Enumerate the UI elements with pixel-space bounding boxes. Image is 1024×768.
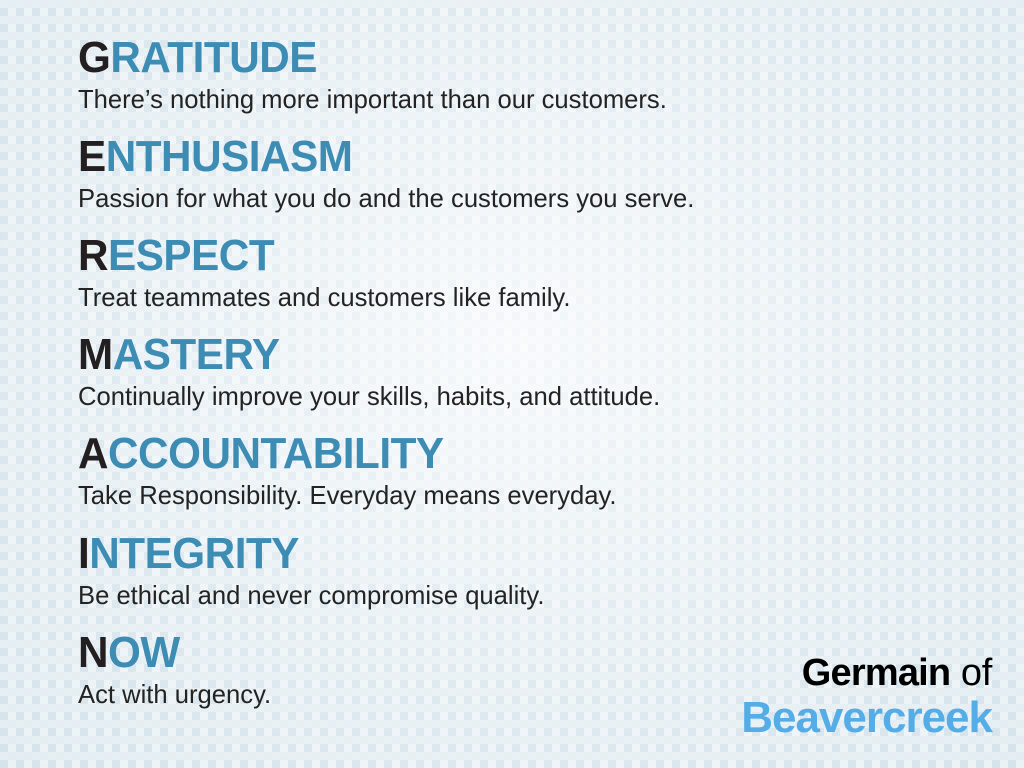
value-heading-mastery: MASTERY	[78, 333, 942, 377]
value-heading-integrity: INTEGRITY	[78, 532, 942, 576]
value-initial-letter: N	[78, 628, 108, 677]
value-initial-letter: G	[78, 33, 110, 82]
logo-connector-word: of	[961, 652, 992, 694]
value-initial-letter: A	[78, 429, 108, 478]
value-entry-mastery: MASTERY Continually improve your skills,…	[78, 333, 978, 411]
value-description-respect: Treat teammates and customers like famil…	[78, 283, 965, 312]
value-description-enthusiasm: Passion for what you do and the customer…	[78, 184, 965, 213]
value-entry-accountability: ACCOUNTABILITY Take Responsibility. Ever…	[78, 432, 978, 510]
value-entry-integrity: INTEGRITY Be ethical and never compromis…	[78, 532, 978, 610]
value-initial-letter: I	[78, 529, 89, 578]
value-remainder-letters: NTEGRITY	[89, 529, 299, 578]
value-initial-letter: R	[78, 231, 108, 280]
value-heading-enthusiasm: ENTHUSIASM	[78, 135, 942, 179]
value-entry-gratitude: GRATITUDE There’s nothing more important…	[78, 36, 978, 114]
value-remainder-letters: CCOUNTABILITY	[108, 429, 444, 478]
value-remainder-letters: OW	[108, 628, 180, 677]
logo-location-name: Beavercreek	[741, 696, 992, 740]
value-initial-letter: M	[78, 330, 113, 379]
value-heading-gratitude: GRATITUDE	[78, 36, 942, 80]
logo-brand-name: Germain	[802, 652, 951, 694]
value-entry-enthusiasm: ENTHUSIASM Passion for what you do and t…	[78, 135, 978, 213]
value-remainder-letters: RATITUDE	[110, 33, 317, 82]
value-description-accountability: Take Responsibility. Everyday means ever…	[78, 481, 965, 510]
value-description-integrity: Be ethical and never compromise quality.	[78, 581, 965, 610]
dealership-logo: Germain of Beavercreek	[741, 654, 992, 740]
logo-top-line: Germain of	[741, 654, 992, 692]
core-values-list: GRATITUDE There’s nothing more important…	[78, 36, 978, 709]
value-initial-letter: E	[78, 132, 106, 181]
value-description-gratitude: There’s nothing more important than our …	[78, 85, 965, 114]
value-remainder-letters: NTHUSIASM	[106, 132, 353, 181]
value-heading-respect: RESPECT	[78, 234, 942, 278]
value-remainder-letters: ESPECT	[108, 231, 274, 280]
value-heading-accountability: ACCOUNTABILITY	[78, 432, 942, 476]
value-entry-respect: RESPECT Treat teammates and customers li…	[78, 234, 978, 312]
value-remainder-letters: ASTERY	[113, 330, 280, 379]
value-description-mastery: Continually improve your skills, habits,…	[78, 382, 965, 411]
values-poster: GRATITUDE There’s nothing more important…	[0, 0, 1024, 768]
